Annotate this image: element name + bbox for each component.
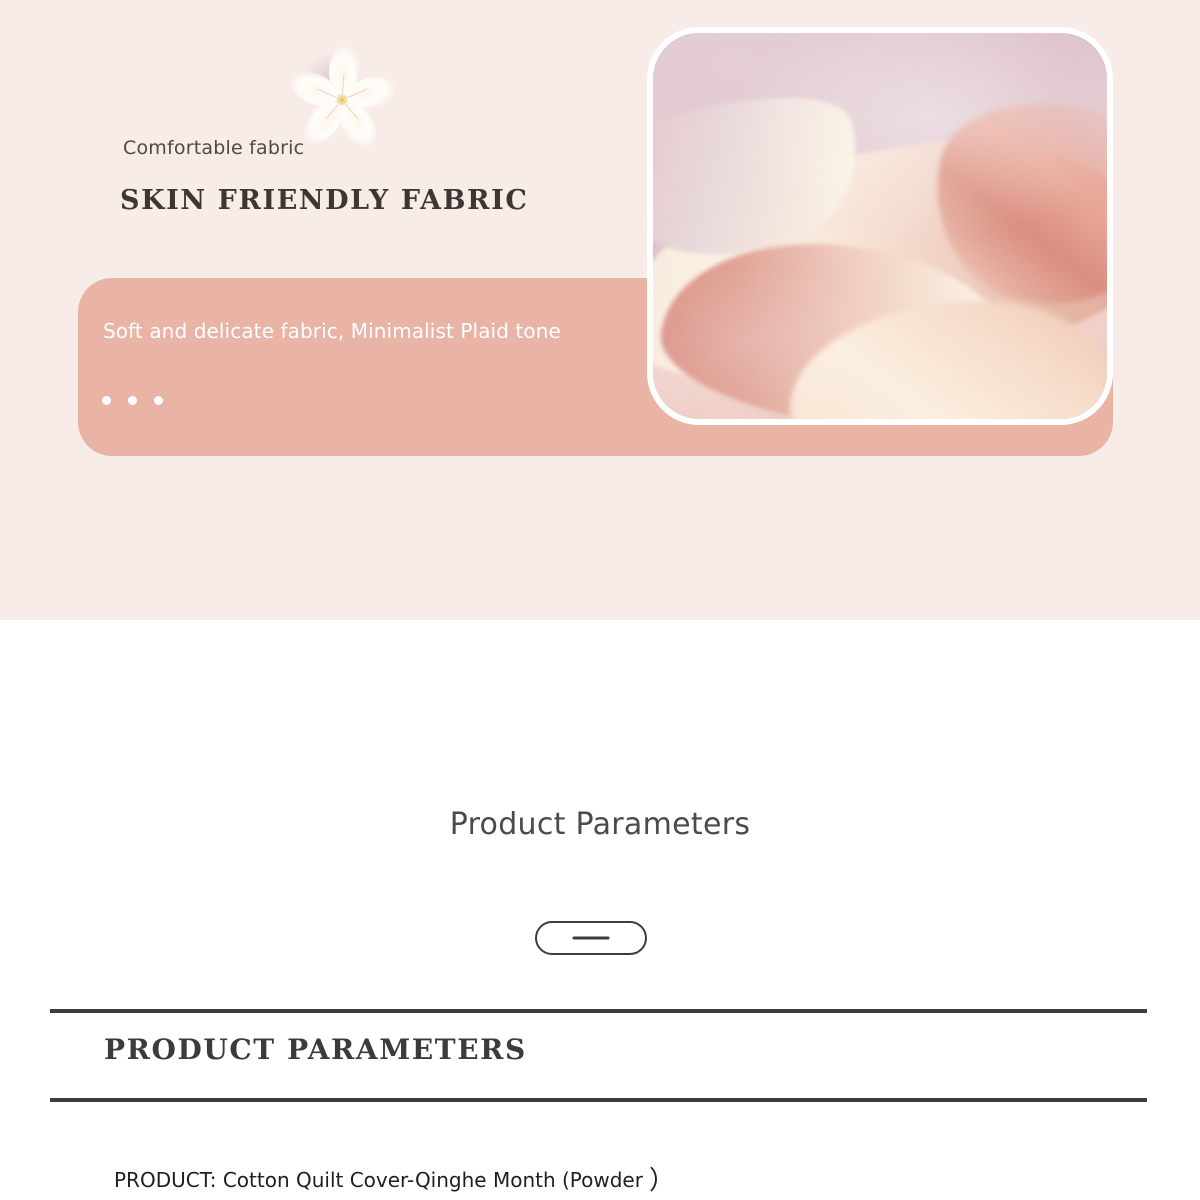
ornament-dash bbox=[573, 937, 610, 940]
carousel-dots[interactable] bbox=[102, 396, 163, 405]
divider-top bbox=[50, 1009, 1147, 1013]
carousel-dot-3[interactable] bbox=[154, 396, 163, 405]
fabric-photo-card[interactable] bbox=[647, 27, 1113, 425]
section-title: Product Parameters bbox=[0, 807, 1200, 842]
product-name-row: PRODUCT: Cotton Quilt Cover-Qinghe Month… bbox=[114, 1160, 675, 1197]
product-name-label: PRODUCT: Cotton Quilt Cover-Qinghe Month… bbox=[114, 1168, 643, 1192]
hero-section: Comfortable fabric SKIN FRIENDLY FABRIC … bbox=[0, 0, 1200, 620]
divider-bottom bbox=[50, 1098, 1147, 1102]
pill-dash-ornament-icon bbox=[535, 921, 647, 955]
product-name-closing-paren: ） bbox=[643, 1166, 675, 1196]
carousel-dot-1[interactable] bbox=[102, 396, 111, 405]
carousel-dot-2[interactable] bbox=[128, 396, 137, 405]
hero-headline: SKIN FRIENDLY FABRIC bbox=[120, 185, 528, 216]
feature-banner-text: Soft and delicate fabric, Minimalist Pla… bbox=[103, 319, 561, 343]
hero-kicker-text: Comfortable fabric bbox=[123, 137, 304, 159]
product-parameters-section: Product Parameters PRODUCT PARAMETERS PR… bbox=[0, 620, 1200, 1200]
params-heading: PRODUCT PARAMETERS bbox=[104, 1033, 527, 1066]
fabric-photo bbox=[653, 33, 1107, 419]
